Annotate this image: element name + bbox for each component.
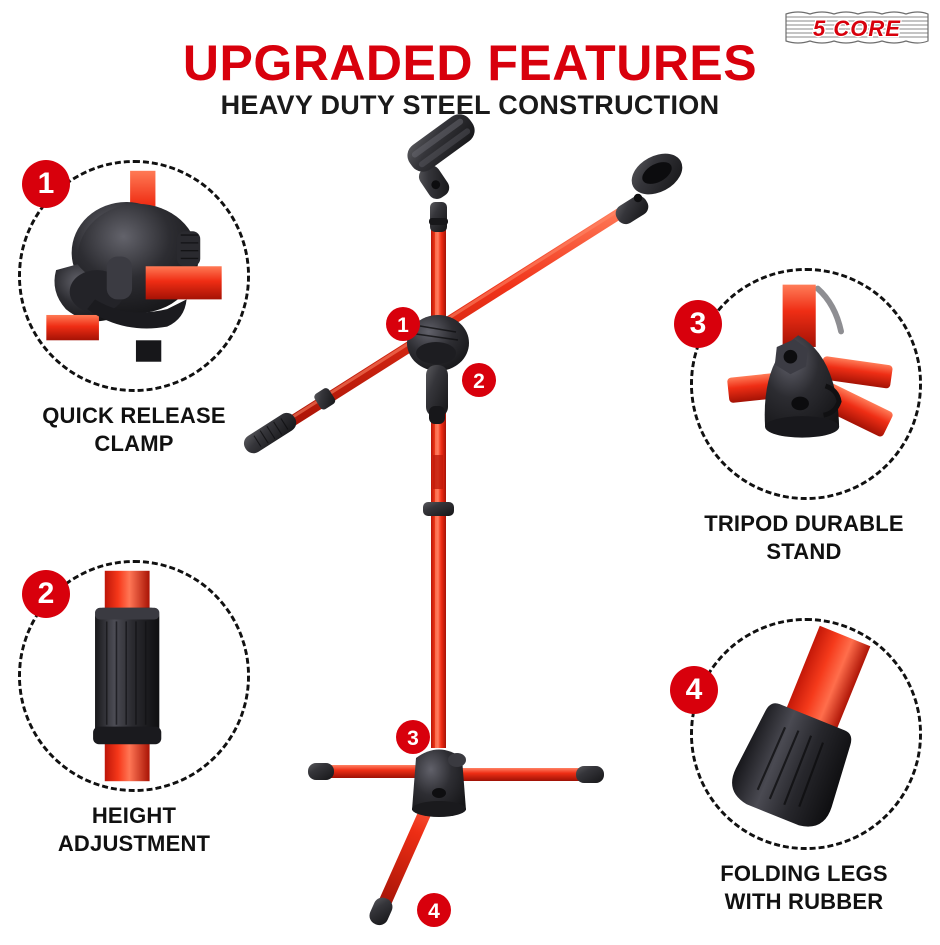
tripod-leg-right [440,766,604,783]
top-mic-clip [402,110,480,232]
tripod-hub-icon [693,271,919,497]
product-marker-4-label: 4 [428,900,440,923]
product-marker-3: 3 [396,720,430,754]
feature-4-number: 4 [686,673,703,706]
feature-4-label: FOLDING LEGS WITH RUBBER [668,860,940,916]
feature-callout-4: 4 FOLDING LEGS WITH RUBBER [668,608,940,928]
feature-4-label-line1: FOLDING LEGS [668,860,940,888]
page-title: UPGRADED FEATURES [0,36,940,90]
feature-3-label: TRIPOD DURABLE STAND [668,510,940,566]
feature-2-badge: 2 [22,570,70,618]
feature-2-label: HEIGHT ADJUSTMENT [0,802,268,858]
feature-3-badge: 3 [674,300,722,348]
product-marker-3-label: 3 [407,727,419,750]
feature-1-label-line1: QUICK RELEASE [0,402,268,430]
boom-arm [241,145,690,456]
feature-callout-3: 3 TRIPOD DURABLE STAND [668,258,940,568]
feature-1-label: QUICK RELEASE CLAMP [0,402,268,458]
mic-stand-illustration: 1 2 3 4 [230,110,730,940]
product-marker-2-label: 2 [473,370,485,393]
rubber-foot-icon [693,621,919,847]
feature-2-number: 2 [38,577,55,610]
product-marker-4: 4 [417,893,451,927]
feature-3-label-line1: TRIPOD DURABLE [668,510,940,538]
feature-3-number: 3 [690,307,707,340]
product-image: 1 2 3 4 [230,110,730,940]
vertical-pole [431,228,446,748]
feature-callout-2: 2 HEIGHT ADJUSTMENT [0,550,270,860]
feature-3-label-line2: STAND [668,538,940,566]
feature-1-number: 1 [38,167,55,200]
feature-4-badge: 4 [670,666,718,714]
feature-1-badge: 1 [22,160,70,208]
boom-mic-holder [612,145,689,227]
feature-4-label-line2: WITH RUBBER [668,888,940,916]
product-marker-2: 2 [462,363,496,397]
tripod-base [308,750,604,929]
feature-2-label-line2: ADJUSTMENT [0,830,268,858]
height-adjust-collar [423,502,454,516]
product-marker-1: 1 [386,307,420,341]
feature-4-circle [690,618,922,850]
feature-callout-1: 1 QUICK RELEASE CLAMP [0,150,270,460]
product-marker-1-label: 1 [397,314,409,337]
feature-1-label-line2: CLAMP [0,430,268,458]
feature-3-circle [690,268,922,500]
feature-2-label-line1: HEIGHT [0,802,268,830]
